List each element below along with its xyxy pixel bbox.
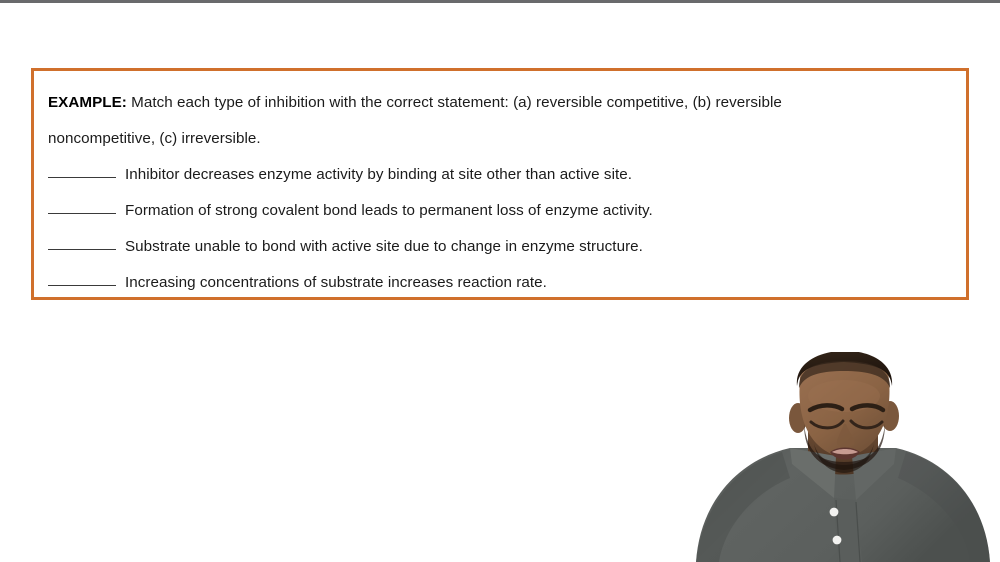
match-statement-text-2: Formation of strong covalent bond leads …	[125, 193, 653, 229]
match-statement-text-4: Increasing concentrations of substrate i…	[125, 265, 547, 301]
answer-blank-4[interactable]	[48, 285, 116, 286]
presenter-video-figure	[686, 352, 1000, 562]
match-statement-text-3: Substrate unable to bond with active sit…	[125, 229, 643, 265]
match-statement-row-4: Increasing concentrations of substrate i…	[48, 265, 948, 301]
answer-blank-1[interactable]	[48, 177, 116, 178]
match-statement-row-3: Substrate unable to bond with active sit…	[48, 229, 948, 265]
example-prompt-line-1: EXAMPLE: Match each type of inhibition w…	[48, 85, 948, 121]
example-prompt-line-2: noncompetitive, (c) irreversible.	[48, 121, 948, 157]
example-label: EXAMPLE:	[48, 94, 127, 111]
match-statement-text-1: Inhibitor decreases enzyme activity by b…	[125, 157, 632, 193]
shirt-button-bottom	[833, 536, 842, 545]
answer-blank-3[interactable]	[48, 249, 116, 250]
example-prompt-text-1: Match each type of inhibition with the c…	[127, 94, 782, 111]
answer-blank-2[interactable]	[48, 213, 116, 214]
example-callout-box: EXAMPLE: Match each type of inhibition w…	[31, 68, 969, 300]
match-statement-row-1: Inhibitor decreases enzyme activity by b…	[48, 157, 948, 193]
shirt-button-top	[830, 508, 839, 517]
top-border-strip	[0, 0, 1000, 3]
match-statement-row-2: Formation of strong covalent bond leads …	[48, 193, 948, 229]
presenter-illustration	[686, 352, 1000, 562]
